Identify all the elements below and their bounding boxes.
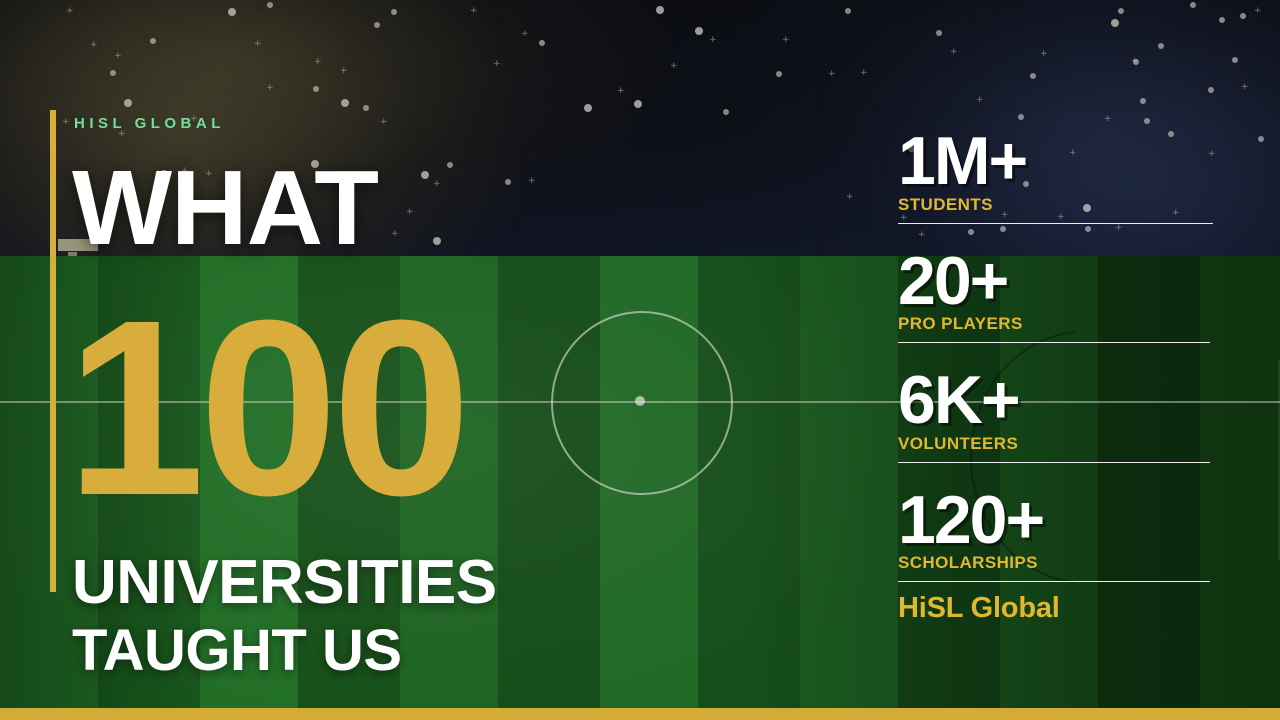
star-icon xyxy=(1111,19,1119,27)
slide-canvas: ++++++++++++++++++++++++++++++++++++++++… xyxy=(0,0,1280,720)
sparkle-icon: + xyxy=(1131,57,1139,66)
stat-label: PRO PLAYERS xyxy=(898,314,1218,334)
brand-label: HiSL Global xyxy=(898,592,1218,625)
star-icon xyxy=(1118,8,1124,14)
sparkle-icon: + xyxy=(528,177,536,186)
star-icon xyxy=(1030,73,1036,79)
star-icon xyxy=(421,171,429,179)
stat-block: 20+PRO PLAYERS xyxy=(898,250,1218,344)
sparkle-icon: + xyxy=(493,60,501,69)
star-icon xyxy=(1208,87,1214,93)
stat-divider xyxy=(898,581,1210,582)
star-icon xyxy=(1240,13,1246,19)
sparkle-icon: + xyxy=(846,193,854,202)
stat-block: 120+SCHOLARSHIPS xyxy=(898,489,1218,583)
sparkle-icon: + xyxy=(1254,7,1262,16)
star-icon xyxy=(313,86,319,92)
star-icon xyxy=(634,100,642,108)
star-icon xyxy=(1144,118,1150,124)
star-icon xyxy=(374,22,380,28)
stat-label: VOLUNTEERS xyxy=(898,434,1218,454)
star-icon xyxy=(1232,57,1238,63)
sparkle-icon: + xyxy=(782,36,790,45)
star-icon xyxy=(110,70,116,76)
star-icon xyxy=(1140,98,1146,104)
star-icon xyxy=(936,30,942,36)
stat-divider xyxy=(898,223,1213,224)
sparkle-icon: + xyxy=(406,208,414,217)
stat-block: 6K+VOLUNTEERS xyxy=(898,369,1218,463)
subheadline-line2: TAUGHT US xyxy=(72,622,402,680)
eyebrow-label: HISL GLOBAL xyxy=(74,115,225,132)
star-icon xyxy=(695,27,703,35)
sparkle-icon: + xyxy=(62,118,70,127)
sparkle-icon: + xyxy=(828,70,836,79)
star-icon xyxy=(656,6,664,14)
star-icon xyxy=(539,40,545,46)
stat-value: 120+ xyxy=(898,489,1218,552)
sparkle-icon: + xyxy=(976,96,984,105)
stat-value: 20+ xyxy=(898,250,1218,313)
star-icon xyxy=(505,179,511,185)
star-icon xyxy=(124,99,132,107)
sparkle-icon: + xyxy=(254,40,262,49)
sparkle-icon: + xyxy=(391,230,399,239)
star-icon xyxy=(228,8,236,16)
sparkle-icon: + xyxy=(470,7,478,16)
sparkle-icon: + xyxy=(709,36,717,45)
stats-column: 1M+STUDENTS20+PRO PLAYERS6K+VOLUNTEERS12… xyxy=(898,130,1218,625)
star-icon xyxy=(845,8,851,14)
stat-block: 1M+STUDENTS xyxy=(898,130,1218,224)
star-icon xyxy=(1190,2,1196,8)
star-icon xyxy=(447,162,453,168)
star-icon xyxy=(723,109,729,115)
star-icon xyxy=(584,104,592,112)
star-icon xyxy=(1219,17,1225,23)
stat-label: SCHOLARSHIPS xyxy=(898,553,1218,573)
sparkle-icon: + xyxy=(340,67,348,76)
star-icon xyxy=(363,105,369,111)
subheadline-line1: UNIVERSITIES xyxy=(72,552,497,614)
sparkle-icon: + xyxy=(521,30,529,39)
sparkle-icon: + xyxy=(950,48,958,57)
left-accent-bar xyxy=(50,110,56,592)
big-number: 100 xyxy=(66,300,465,515)
star-icon xyxy=(1018,114,1024,120)
sparkle-icon: + xyxy=(90,41,98,50)
star-icon xyxy=(776,71,782,77)
star-icon xyxy=(391,9,397,15)
stat-label: STUDENTS xyxy=(898,195,1218,215)
sparkle-icon: + xyxy=(670,62,678,71)
sparkle-icon: + xyxy=(1241,83,1249,92)
sparkle-icon: + xyxy=(1104,115,1112,124)
page-title: WHAT xyxy=(72,160,378,258)
sparkle-icon: + xyxy=(617,87,625,96)
stat-value: 6K+ xyxy=(898,369,1218,432)
pitch-center-spot xyxy=(635,396,645,406)
sparkle-icon: + xyxy=(314,58,322,67)
star-icon xyxy=(150,38,156,44)
sparkle-icon: + xyxy=(266,84,274,93)
sparkle-icon: + xyxy=(860,69,868,78)
star-icon xyxy=(433,237,441,245)
star-icon xyxy=(1258,136,1264,142)
star-icon xyxy=(1158,43,1164,49)
star-icon xyxy=(267,2,273,8)
sparkle-icon: + xyxy=(380,118,388,127)
bottom-accent-bar xyxy=(0,708,1280,720)
sparkle-icon: + xyxy=(114,52,122,61)
sparkle-icon: + xyxy=(66,7,74,16)
stat-divider xyxy=(898,462,1210,463)
star-icon xyxy=(341,99,349,107)
sparkle-icon: + xyxy=(1040,50,1048,59)
sparkle-icon: + xyxy=(433,180,441,189)
stat-value: 1M+ xyxy=(898,130,1218,193)
stat-divider xyxy=(898,342,1210,343)
